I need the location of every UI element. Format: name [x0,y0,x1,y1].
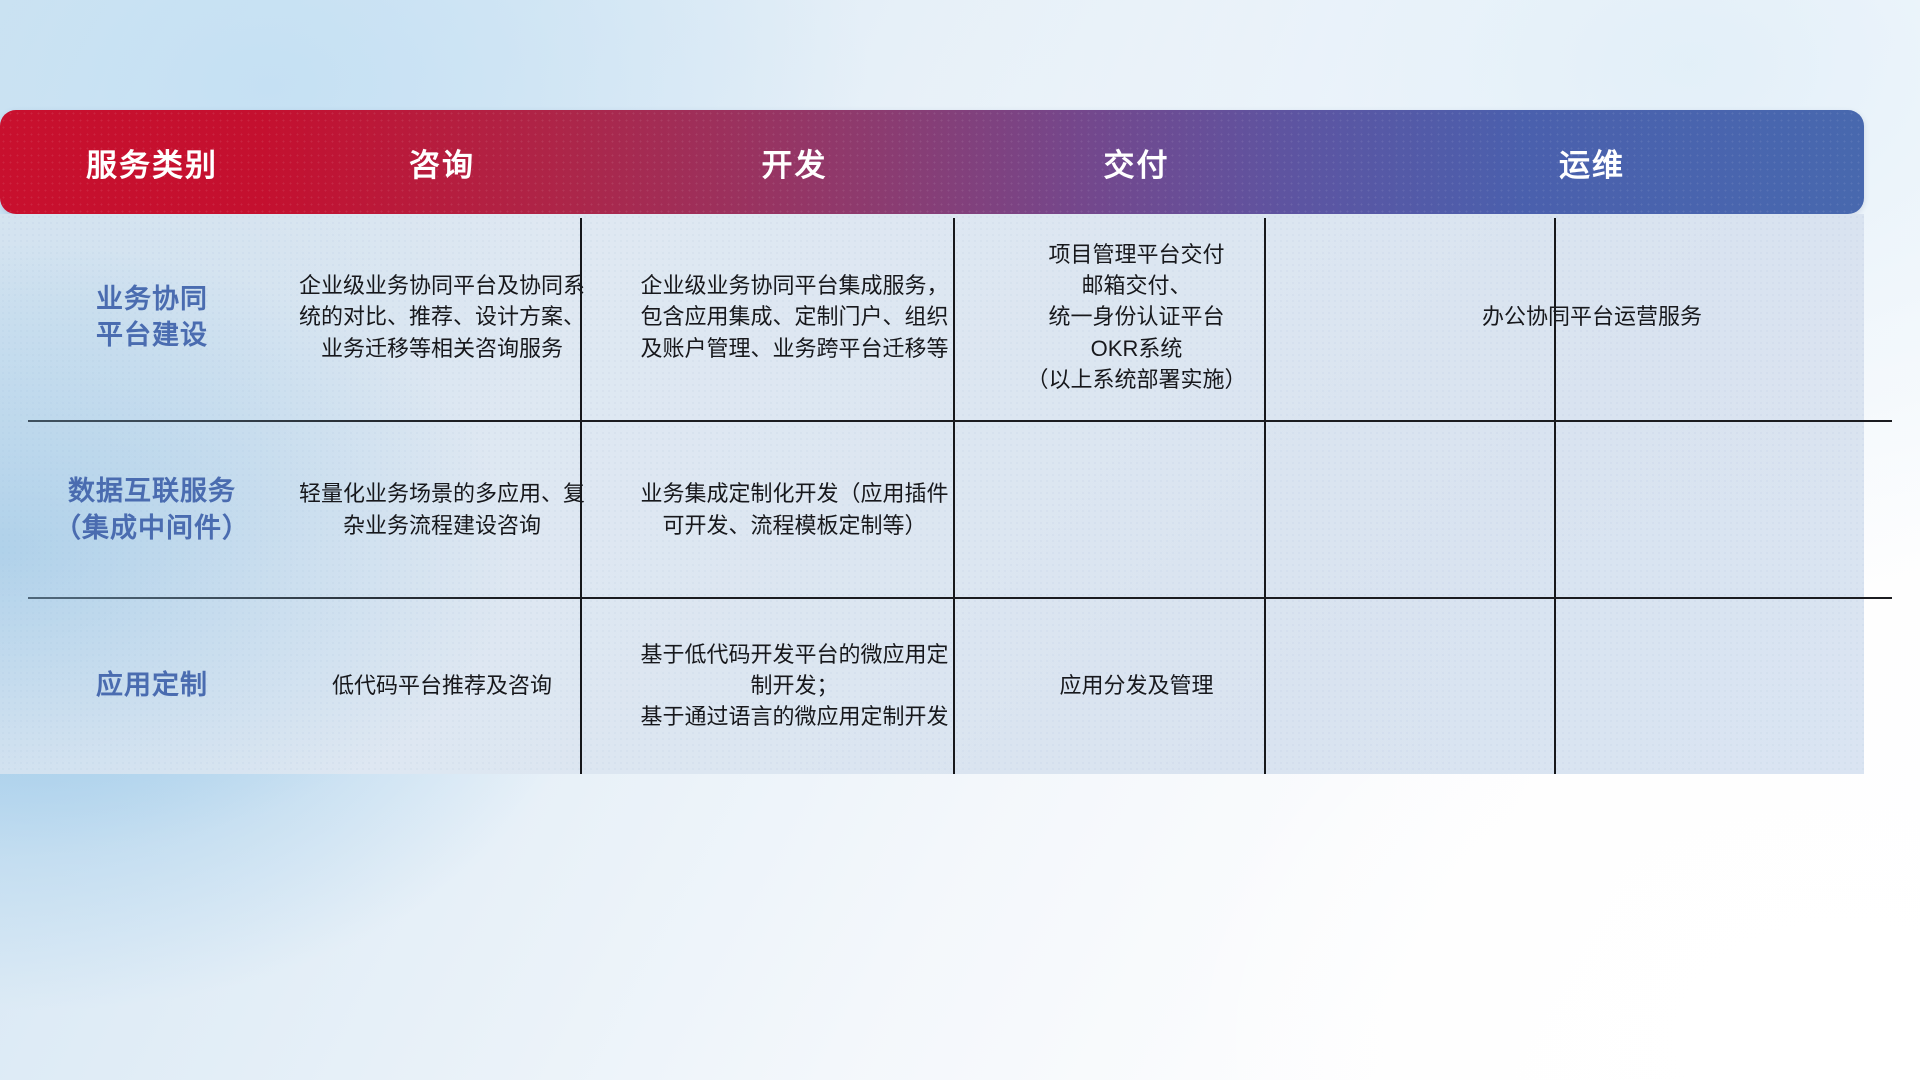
row-1-cell-consulting: 轻量化业务场景的多应用、复 杂业务流程建设咨询 [276,420,608,597]
row-0-development-text: 企业级业务协同平台集成服务， 包含应用集成、定制门户、组织 及账户管理、业务跨平… [640,273,948,360]
service-matrix-table: 服务类别 咨询 开发 交付 运维 [28,110,1892,772]
table-header: 服务类别 咨询 开发 交付 运维 [28,110,1892,214]
row-2-cell-development: 基于低代码开发平台的微应用定 制开发； 基于通过语言的微应用定制开发 [608,597,981,772]
row-2-cell-operations [1292,597,1892,772]
service-matrix-table-wrapper: 服务类别 咨询 开发 交付 运维 [28,110,1892,772]
row-0-category-text: 业务协同 平台建设 [96,284,208,350]
row-2-cell-consulting: 低代码平台推荐及咨询 [276,597,608,772]
row-2-category-text: 应用定制 [96,670,208,700]
row-category-label: 应用定制 [28,597,276,772]
row-0-cell-operations: 办公协同平台运营服务 [1292,214,1892,420]
header-cell-delivery: 交付 [981,110,1292,214]
row-1-consulting-text: 轻量化业务场景的多应用、复 杂业务流程建设咨询 [299,481,585,537]
header-label-development: 开发 [762,148,828,183]
row-2-consulting-text: 低代码平台推荐及咨询 [332,673,552,698]
row-1-cell-operations [1292,420,1892,597]
row-0-cell-development: 企业级业务协同平台集成服务， 包含应用集成、定制门户、组织 及账户管理、业务跨平… [608,214,981,420]
row-category-label: 数据互联服务 （集成中间件） [28,420,276,597]
header-cell-development: 开发 [608,110,981,214]
table-row: 业务协同 平台建设 企业级业务协同平台及协同系 统的对比、推荐、设计方案、 业务… [28,214,1892,420]
slide-canvas: 服务类别 咨询 开发 交付 运维 [0,0,1920,1080]
table-body: 业务协同 平台建设 企业级业务协同平台及协同系 统的对比、推荐、设计方案、 业务… [28,214,1892,772]
header-cell-consulting: 咨询 [276,110,608,214]
header-row: 服务类别 咨询 开发 交付 运维 [28,110,1892,214]
row-category-label: 业务协同 平台建设 [28,214,276,420]
header-label-delivery: 交付 [1104,148,1170,183]
row-1-development-text: 业务集成定制化开发（应用插件 可开发、流程模板定制等） [640,481,948,537]
row-1-cell-development: 业务集成定制化开发（应用插件 可开发、流程模板定制等） [608,420,981,597]
row-2-cell-delivery: 应用分发及管理 [981,597,1292,772]
row-2-development-text: 基于低代码开发平台的微应用定 制开发； 基于通过语言的微应用定制开发 [640,642,948,729]
row-0-consulting-text: 企业级业务协同平台及协同系 统的对比、推荐、设计方案、 业务迁移等相关咨询服务 [299,273,585,360]
header-label-operations: 运维 [1559,148,1625,183]
row-0-cell-delivery: 项目管理平台交付 邮箱交付、 统一身份认证平台 OKR系统 （以上系统部署实施） [981,214,1292,420]
row-0-operations-text: 办公协同平台运营服务 [1482,304,1702,329]
header-label-consulting: 咨询 [409,148,475,183]
header-label-category: 服务类别 [86,148,218,183]
row-1-category-text: 数据互联服务 （集成中间件） [54,476,250,542]
table-row: 应用定制 低代码平台推荐及咨询 基于低代码开发平台的微应用定 制开发； 基于通过… [28,597,1892,772]
row-0-cell-consulting: 企业级业务协同平台及协同系 统的对比、推荐、设计方案、 业务迁移等相关咨询服务 [276,214,608,420]
header-cell-category: 服务类别 [28,110,276,214]
header-cell-operations: 运维 [1292,110,1892,214]
table-row: 数据互联服务 （集成中间件） 轻量化业务场景的多应用、复 杂业务流程建设咨询 业… [28,420,1892,597]
row-2-delivery-text: 应用分发及管理 [1059,673,1213,698]
row-1-cell-delivery [981,420,1292,597]
row-0-delivery-text: 项目管理平台交付 邮箱交付、 统一身份认证平台 OKR系统 （以上系统部署实施） [1026,242,1246,392]
